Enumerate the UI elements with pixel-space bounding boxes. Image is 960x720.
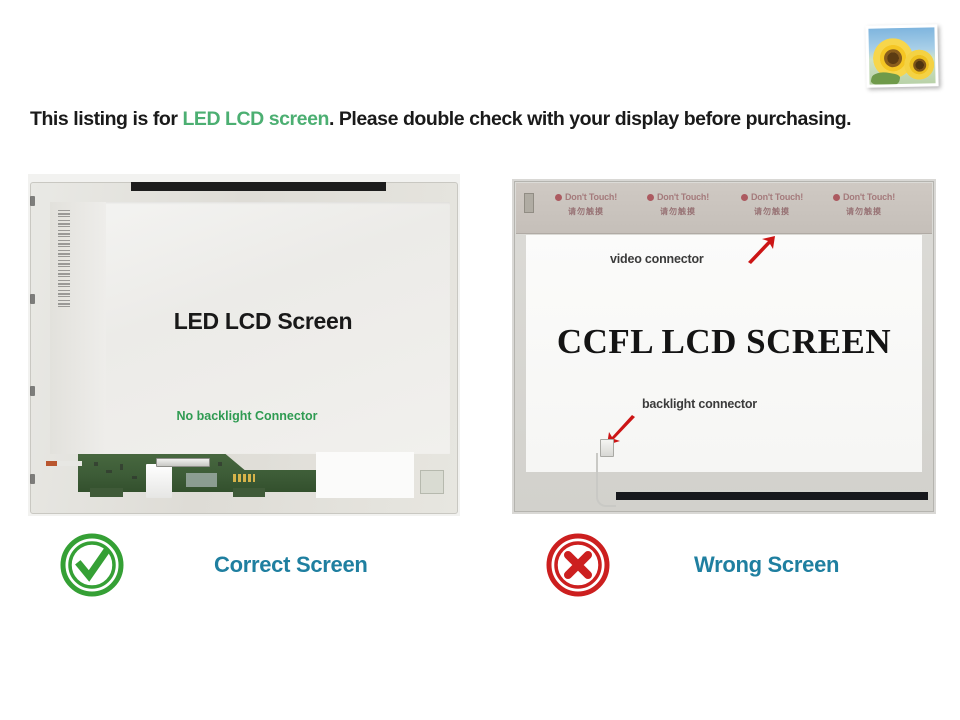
led-screen-image: LED LCD Screen No backlight Connector xyxy=(28,174,460,516)
ccfl-top-warning-band: Don't Touch! 请勿触摸 Don't Touch! 请勿触摸 Don'… xyxy=(516,183,932,234)
led-mounting-tab xyxy=(30,294,35,304)
dont-touch-text-cn: 请勿触摸 xyxy=(726,206,818,217)
led-pcb-foot xyxy=(90,488,123,497)
led-screen-photo-panel: LED LCD Screen No backlight Connector xyxy=(28,174,460,516)
led-pcb-foot xyxy=(233,488,265,497)
led-flex-cable xyxy=(146,464,172,498)
ccfl-bottom-black-strip xyxy=(616,492,928,500)
led-pcb-component xyxy=(132,476,137,479)
dont-touch-text-cn: 请勿触摸 xyxy=(632,206,724,217)
green-check-circle-icon xyxy=(58,531,126,599)
led-pcb-chip xyxy=(186,473,217,487)
ccfl-screen-image: Don't Touch! 请勿触摸 Don't Touch! 请勿触摸 Don'… xyxy=(512,179,936,514)
led-pcb-component xyxy=(106,470,112,473)
wrong-screen-verdict: Wrong Screen xyxy=(544,531,839,599)
backlight-connector-label: backlight connector xyxy=(642,397,757,411)
warning-dot-icon xyxy=(833,194,840,201)
led-pcb-component xyxy=(218,462,222,466)
led-mounting-tab xyxy=(30,196,35,206)
ccfl-screen-photo-panel: Don't Touch! 请勿触摸 Don't Touch! 请勿触摸 Don'… xyxy=(512,179,936,514)
warning-dot-icon xyxy=(647,194,654,201)
led-pcb-component xyxy=(120,464,123,470)
dont-touch-text: Don't Touch! xyxy=(657,192,709,202)
warning-dot-icon xyxy=(741,194,748,201)
led-mounting-tab xyxy=(30,386,35,396)
led-panel-title: LED LCD Screen xyxy=(28,308,460,335)
led-video-connector xyxy=(156,458,210,467)
ccfl-panel-title: CCFL LCD SCREEN xyxy=(512,322,936,362)
ccfl-mounting-tab xyxy=(524,193,534,213)
listing-headline: This listing is for LED LCD screen. Plea… xyxy=(30,108,940,131)
led-white-pad xyxy=(316,452,414,498)
led-tail-cable xyxy=(46,461,82,466)
led-corner-component xyxy=(420,470,444,494)
sunflower-photo-thumbnail xyxy=(866,25,938,87)
dont-touch-text: Don't Touch! xyxy=(843,192,895,202)
sunflower-image xyxy=(868,27,935,84)
correct-screen-verdict: Correct Screen xyxy=(58,531,368,599)
led-pcb-pins xyxy=(233,474,255,482)
video-connector-label: video connector xyxy=(610,252,704,266)
bottom-whitespace xyxy=(0,620,960,720)
dont-touch-sticker: Don't Touch! 请勿触摸 xyxy=(818,192,910,217)
dont-touch-text: Don't Touch! xyxy=(565,192,617,202)
red-x-circle-icon xyxy=(544,531,612,599)
led-pcb-component xyxy=(94,462,98,466)
headline-text-before: This listing is for xyxy=(30,108,182,130)
led-screen-top-black-strip xyxy=(131,182,386,191)
dont-touch-text-cn: 请勿触摸 xyxy=(540,206,632,217)
correct-screen-label: Correct Screen xyxy=(214,552,368,578)
led-mounting-tab xyxy=(30,474,35,484)
led-panel-subtitle: No backlight Connector xyxy=(28,409,460,423)
thumbnail-frame xyxy=(865,24,938,87)
video-connector-arrow-icon xyxy=(744,235,778,265)
headline-text-after: . Please double check with your display … xyxy=(329,108,851,130)
headline-highlight: LED LCD screen xyxy=(182,108,329,130)
led-barcode-label xyxy=(58,210,70,310)
wrong-screen-label: Wrong Screen xyxy=(694,552,839,578)
dont-touch-text-cn: 请勿触摸 xyxy=(818,206,910,217)
dont-touch-sticker: Don't Touch! 请勿触摸 xyxy=(726,192,818,217)
dont-touch-sticker: Don't Touch! 请勿触摸 xyxy=(540,192,632,217)
dont-touch-text: Don't Touch! xyxy=(751,192,803,202)
ccfl-backlight-wire xyxy=(596,453,616,507)
dont-touch-sticker: Don't Touch! 请勿触摸 xyxy=(632,192,724,217)
warning-dot-icon xyxy=(555,194,562,201)
